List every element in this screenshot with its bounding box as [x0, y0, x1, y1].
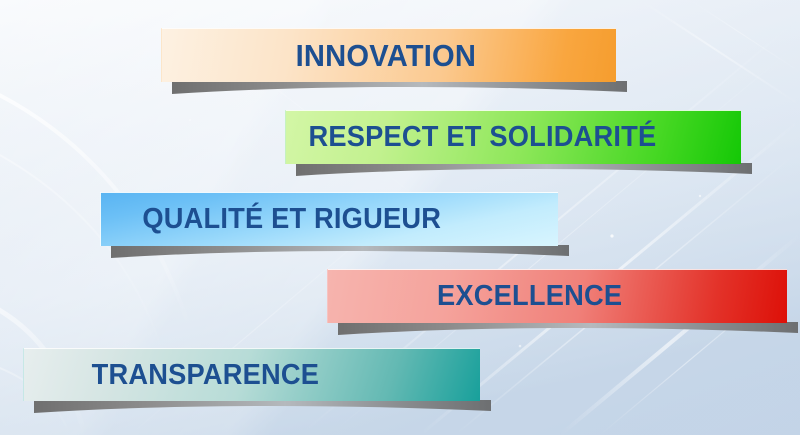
- banner-label-innovation: INNOVATION: [290, 40, 476, 71]
- banner-shadow-qualite: [111, 245, 569, 260]
- banner-transparence[interactable]: TRANSPARENCE: [23, 348, 480, 401]
- banner-qualite-rigueur[interactable]: QUALITÉ ET RIGUEUR: [100, 192, 558, 246]
- banner-label-transparence: TRANSPARENCE: [24, 361, 319, 390]
- banner-shadow-innovation: [172, 81, 627, 96]
- slide-canvas: INNOVATION RESPECT ET SOLIDARITÉ: [0, 0, 800, 435]
- banner-innovation[interactable]: INNOVATION: [161, 28, 616, 82]
- banner-label-excellence: EXCELLENCE: [328, 282, 622, 311]
- banner-label-qualite-rigueur: QUALITÉ ET RIGUEUR: [101, 205, 441, 234]
- banner-respect-solidarite[interactable]: RESPECT ET SOLIDARITÉ: [285, 110, 741, 164]
- banner-shadow-transparence: [34, 400, 491, 415]
- banner-excellence[interactable]: EXCELLENCE: [327, 269, 787, 323]
- banner-label-respect-solidarite: RESPECT ET SOLIDARITÉ: [286, 123, 656, 152]
- banner-shadow-respect: [296, 163, 752, 178]
- banner-shadow-excellence: [338, 322, 798, 337]
